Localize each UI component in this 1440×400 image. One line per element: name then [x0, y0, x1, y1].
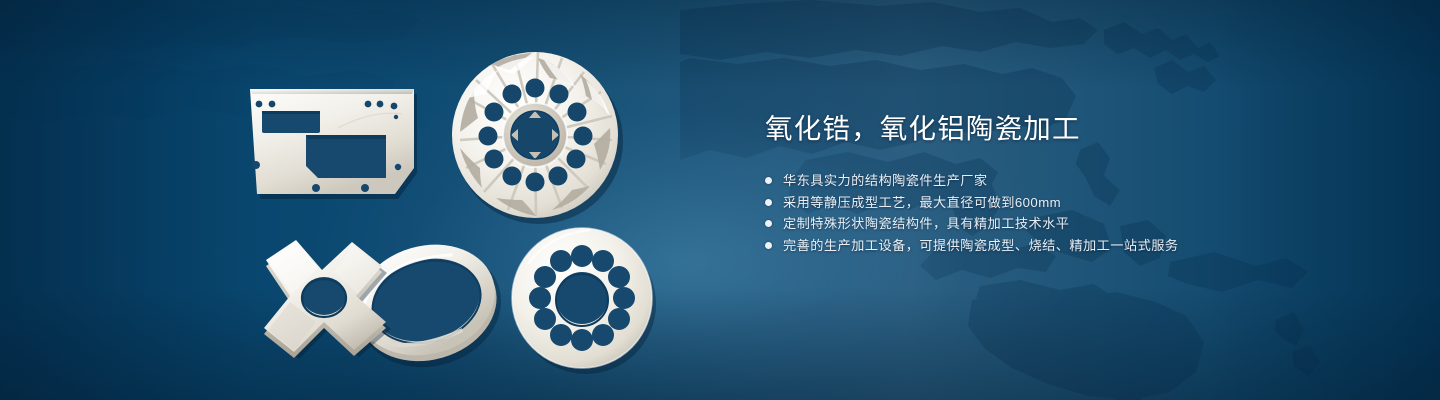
- bullet-dot-icon: [765, 177, 772, 184]
- ceramic-perforated-disc-image: [504, 220, 660, 376]
- banner-copy: 氧化锆，氧化铝陶瓷加工 华东具实力的结构陶瓷件生产厂家 采用等静压成型工艺，最大…: [765, 112, 1385, 256]
- ceramic-impeller-image: [440, 40, 630, 230]
- list-item: 采用等静压成型工艺，最大直径可做到600mm: [765, 192, 1385, 213]
- list-item: 完善的生产加工设备，可提供陶瓷成型、烧结、精加工一站式服务: [765, 235, 1385, 256]
- bullet-dot-icon: [765, 199, 772, 206]
- bullet-dot-icon: [765, 220, 772, 227]
- bullet-dot-icon: [765, 242, 772, 249]
- list-item: 定制特殊形状陶瓷结构件，具有精加工技术水平: [765, 213, 1385, 234]
- product-image-cluster: [232, 40, 702, 370]
- feature-text: 采用等静压成型工艺，最大直径可做到600mm: [783, 192, 1061, 213]
- feature-text: 定制特殊形状陶瓷结构件，具有精加工技术水平: [783, 213, 1069, 234]
- feature-text: 华东具实力的结构陶瓷件生产厂家: [783, 170, 988, 191]
- feature-text: 完善的生产加工设备，可提供陶瓷成型、烧结、精加工一站式服务: [783, 235, 1179, 256]
- hero-banner: 氧化锆，氧化铝陶瓷加工 华东具实力的结构陶瓷件生产厂家 采用等静压成型工艺，最大…: [0, 0, 1440, 400]
- page-title: 氧化锆，氧化铝陶瓷加工: [765, 112, 1385, 146]
- list-item: 华东具实力的结构陶瓷件生产厂家: [765, 170, 1385, 191]
- feature-list: 华东具实力的结构陶瓷件生产厂家 采用等静压成型工艺，最大直径可做到600mm 定…: [765, 170, 1385, 256]
- ceramic-plate-image: [232, 80, 432, 210]
- ceramic-cross-plate-image: [236, 226, 416, 370]
